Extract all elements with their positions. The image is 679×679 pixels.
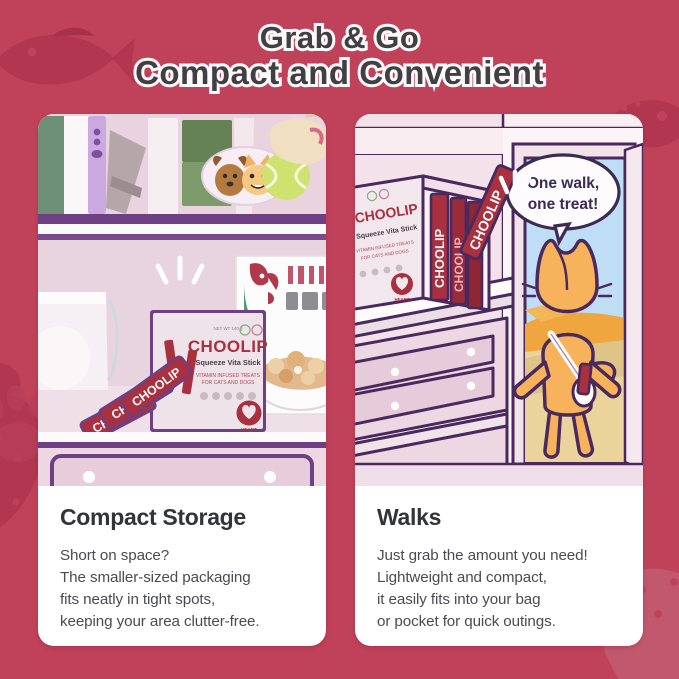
svg-text:NET WT 140 g: NET WT 140 g (214, 326, 243, 331)
card-compact-storage[interactable]: NET WT 140 g CHOOLIP Squeeze Vita Stick … (38, 114, 326, 646)
card-body-compact-storage: Short on space? The smaller-sized packag… (60, 545, 304, 633)
card-text-walks: Walks Just grab the amount you need! Lig… (355, 486, 643, 633)
pantry-shelf-illustration: NET WT 140 g CHOOLIP Squeeze Vita Stick … (38, 114, 326, 486)
heading-line-2: Compact and Convenient (0, 56, 679, 90)
card-text-compact-storage: Compact Storage Short on space? The smal… (38, 486, 326, 633)
svg-text:HEART: HEART (394, 297, 409, 302)
svg-text:FOR CATS AND DOGS: FOR CATS AND DOGS (202, 380, 255, 386)
card-title-walks: Walks (377, 504, 621, 531)
entryway-walk-illustration: One walk, one treat! (355, 114, 643, 486)
card-walks[interactable]: One walk, one treat! (355, 114, 643, 646)
heading-line-1: Grab & Go (0, 22, 679, 54)
svg-text:CHOOLIP: CHOOLIP (188, 337, 268, 356)
poster-canvas: Grab & Go Compact and Convenient (0, 0, 679, 679)
poster-heading: Grab & Go Compact and Convenient (0, 22, 679, 91)
card-title-compact-storage: Compact Storage (60, 504, 304, 531)
svg-text:One walk,: One walk, (527, 175, 599, 192)
svg-text:one treat!: one treat! (528, 196, 599, 213)
svg-text:VITAMIN INFUSED TREATS: VITAMIN INFUSED TREATS (196, 373, 261, 379)
svg-text:Squeeze Vita Stick: Squeeze Vita Stick (195, 358, 261, 367)
card-body-walks: Just grab the amount you need! Lightweig… (377, 545, 621, 633)
svg-text:CHOOLIP: CHOOLIP (432, 228, 447, 288)
svg-text:HEART: HEART (241, 427, 257, 432)
